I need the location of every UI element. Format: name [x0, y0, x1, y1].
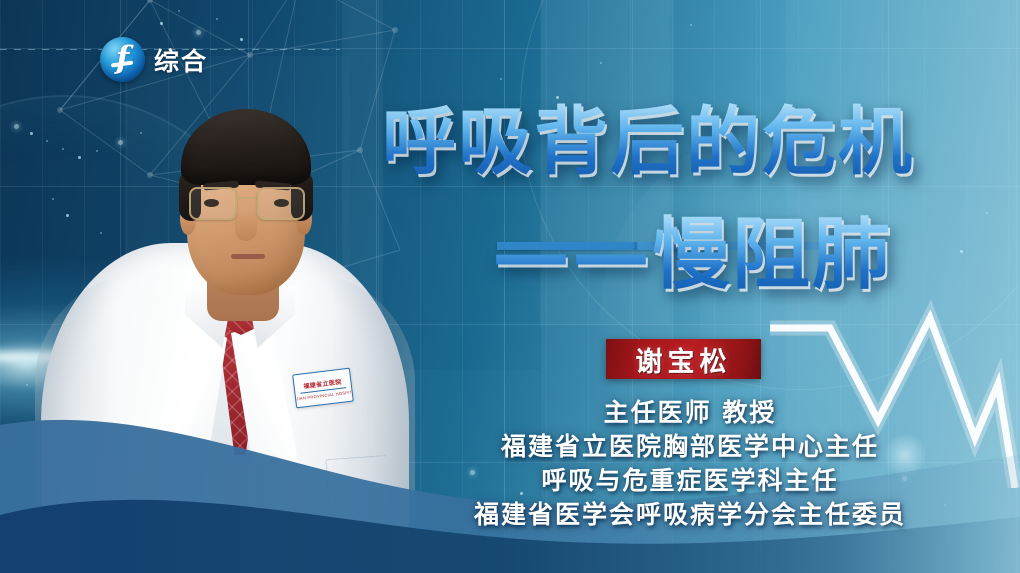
- fujian-tv-f-logo-icon: f: [100, 37, 145, 82]
- program-title-sub: ——慢阻肺: [492, 192, 892, 304]
- broadcast-title-card: 福建省立医院 FUJIAN PROVINCIAL HOSPITAL: [0, 0, 1020, 573]
- lens-right: [257, 187, 305, 220]
- guest-name-banner: 谢宝松: [606, 339, 761, 379]
- glasses-bridge: [237, 197, 257, 199]
- lens-left: [189, 187, 237, 220]
- mouth: [231, 254, 265, 259]
- hair: [181, 109, 311, 185]
- credential-line-1: 主任医师 教授: [400, 396, 980, 430]
- credential-line-3: 呼吸与危重症医学科主任: [400, 464, 980, 498]
- logo-letter: f: [100, 36, 145, 81]
- guest-name: 谢宝松: [636, 340, 732, 379]
- guest-credentials: 主任医师 教授 福建省立医院胸部医学中心主任 呼吸与危重症医学科主任 福建省医学…: [400, 396, 980, 532]
- credential-line-4: 福建省医学会呼吸病学分会主任委员: [400, 498, 980, 532]
- channel-name: 综合: [154, 42, 208, 78]
- channel-logo[interactable]: f 综合: [100, 37, 208, 82]
- nose: [235, 211, 257, 241]
- credential-line-2: 福建省立医院胸部医学中心主任: [400, 430, 980, 464]
- program-title-main: 呼吸背后的危机: [382, 82, 914, 189]
